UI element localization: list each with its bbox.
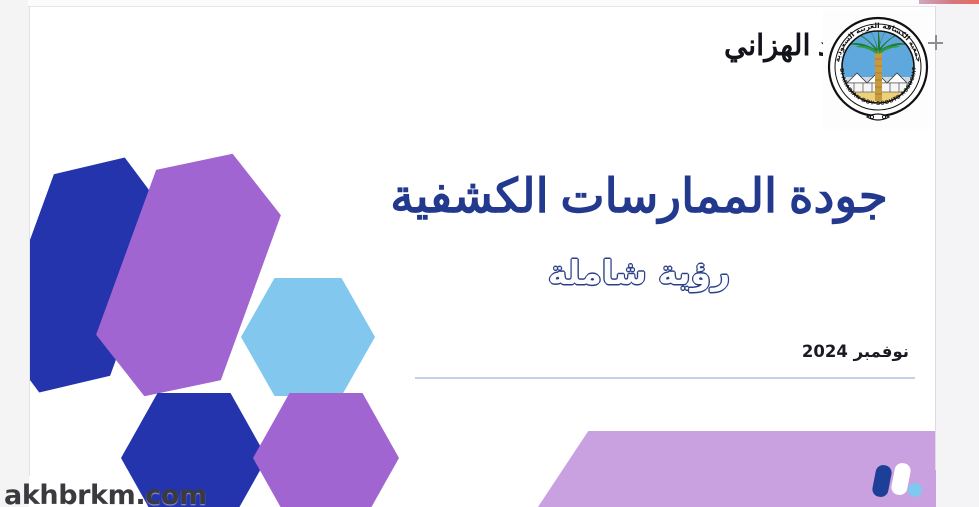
hexagon-light-blue xyxy=(241,278,375,396)
date-row[interactable]: نوفمبر 2024 xyxy=(389,342,909,362)
page-subtitle[interactable]: رؤية شاملة xyxy=(359,255,919,291)
guide-line-left xyxy=(29,6,30,476)
accent-bar xyxy=(919,0,979,4)
scouts-association-logo: جمعية الكشافة العربية السعودية SAUDI ARA… xyxy=(823,9,933,129)
editor-left-gutter xyxy=(0,0,28,507)
guide-line-right xyxy=(935,6,936,470)
slide-editor-screen: جمعية الكشافة العربية السعودية SAUDI ARA… xyxy=(0,0,979,507)
editor-top-strip xyxy=(28,0,936,7)
divider-rule xyxy=(415,377,915,379)
presenter-brand-mark-icon xyxy=(870,459,930,503)
title-block[interactable]: جودة الممارسات الكشفية رؤية شاملة xyxy=(359,168,919,291)
crosshair-cursor-icon[interactable] xyxy=(928,35,943,50)
hexagon-purple-bottom xyxy=(253,393,399,507)
editor-right-gutter xyxy=(936,0,979,507)
slide-canvas[interactable]: جمعية الكشافة العربية السعودية SAUDI ARA… xyxy=(29,6,936,507)
page-title[interactable]: جودة الممارسات الكشفية xyxy=(359,168,919,227)
date-text: نوفمبر 2024 xyxy=(802,342,909,361)
site-watermark: akhbrkm.com xyxy=(4,480,207,507)
